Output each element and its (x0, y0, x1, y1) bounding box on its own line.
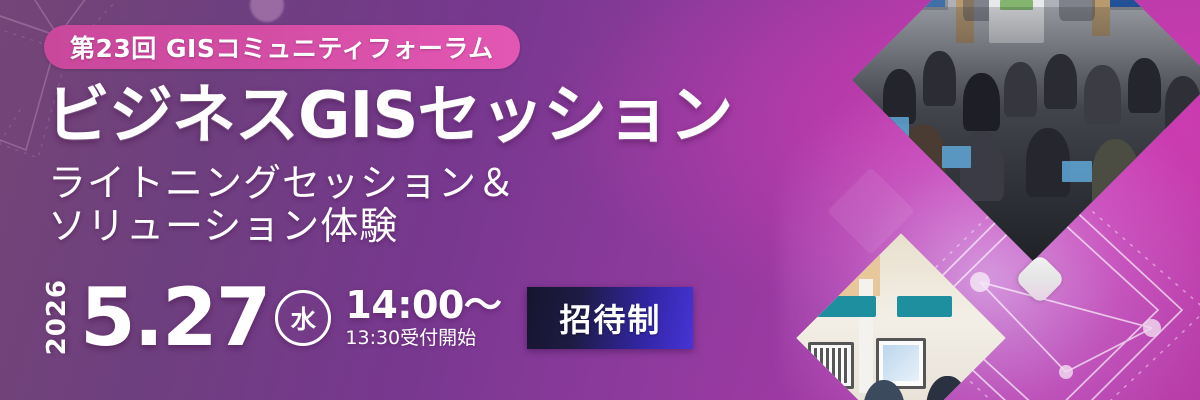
forum-edition-label: 第23回 GISコミュニティフォーラム (70, 29, 494, 65)
attendance-badge: 招待制 (527, 287, 693, 349)
event-time-block: 14:00〜 13:30受付開始 (345, 286, 501, 350)
attendance-badge-label: 招待制 (559, 295, 661, 341)
event-banner: 第23回 GISコミュニティフォーラム ビジネスGISセッション ライトニングセ… (0, 0, 1200, 400)
forum-edition-badge: 第23回 GISコミュニティフォーラム (44, 25, 520, 69)
event-day-of-week-label: 水 (291, 300, 316, 336)
banner-subtitle-line1: ライトニングセッション＆ (48, 162, 516, 205)
event-date: 5.27 (80, 281, 269, 355)
banner-subtitle: ライトニングセッション＆ ソリューション体験 (48, 162, 516, 248)
event-start-time: 14:00〜 (345, 286, 501, 326)
event-reception-time: 13:30受付開始 (345, 327, 501, 350)
photo-exhibition-booth (796, 233, 1005, 400)
event-date-row: 2026 5.27 水 14:00〜 13:30受付開始 招待制 (44, 272, 693, 364)
event-day-of-week-circle: 水 (275, 290, 331, 346)
photo-seminar-audience (852, 0, 1200, 261)
rounded-square-chip-decoration (1015, 254, 1066, 305)
banner-title: ビジネスGISセッション (46, 84, 732, 148)
banner-content: 第23回 GISコミュニティフォーラム ビジネスGISセッション ライトニングセ… (0, 0, 820, 400)
banner-subtitle-line2: ソリューション体験 (48, 205, 516, 248)
event-year: 2026 (44, 279, 70, 355)
